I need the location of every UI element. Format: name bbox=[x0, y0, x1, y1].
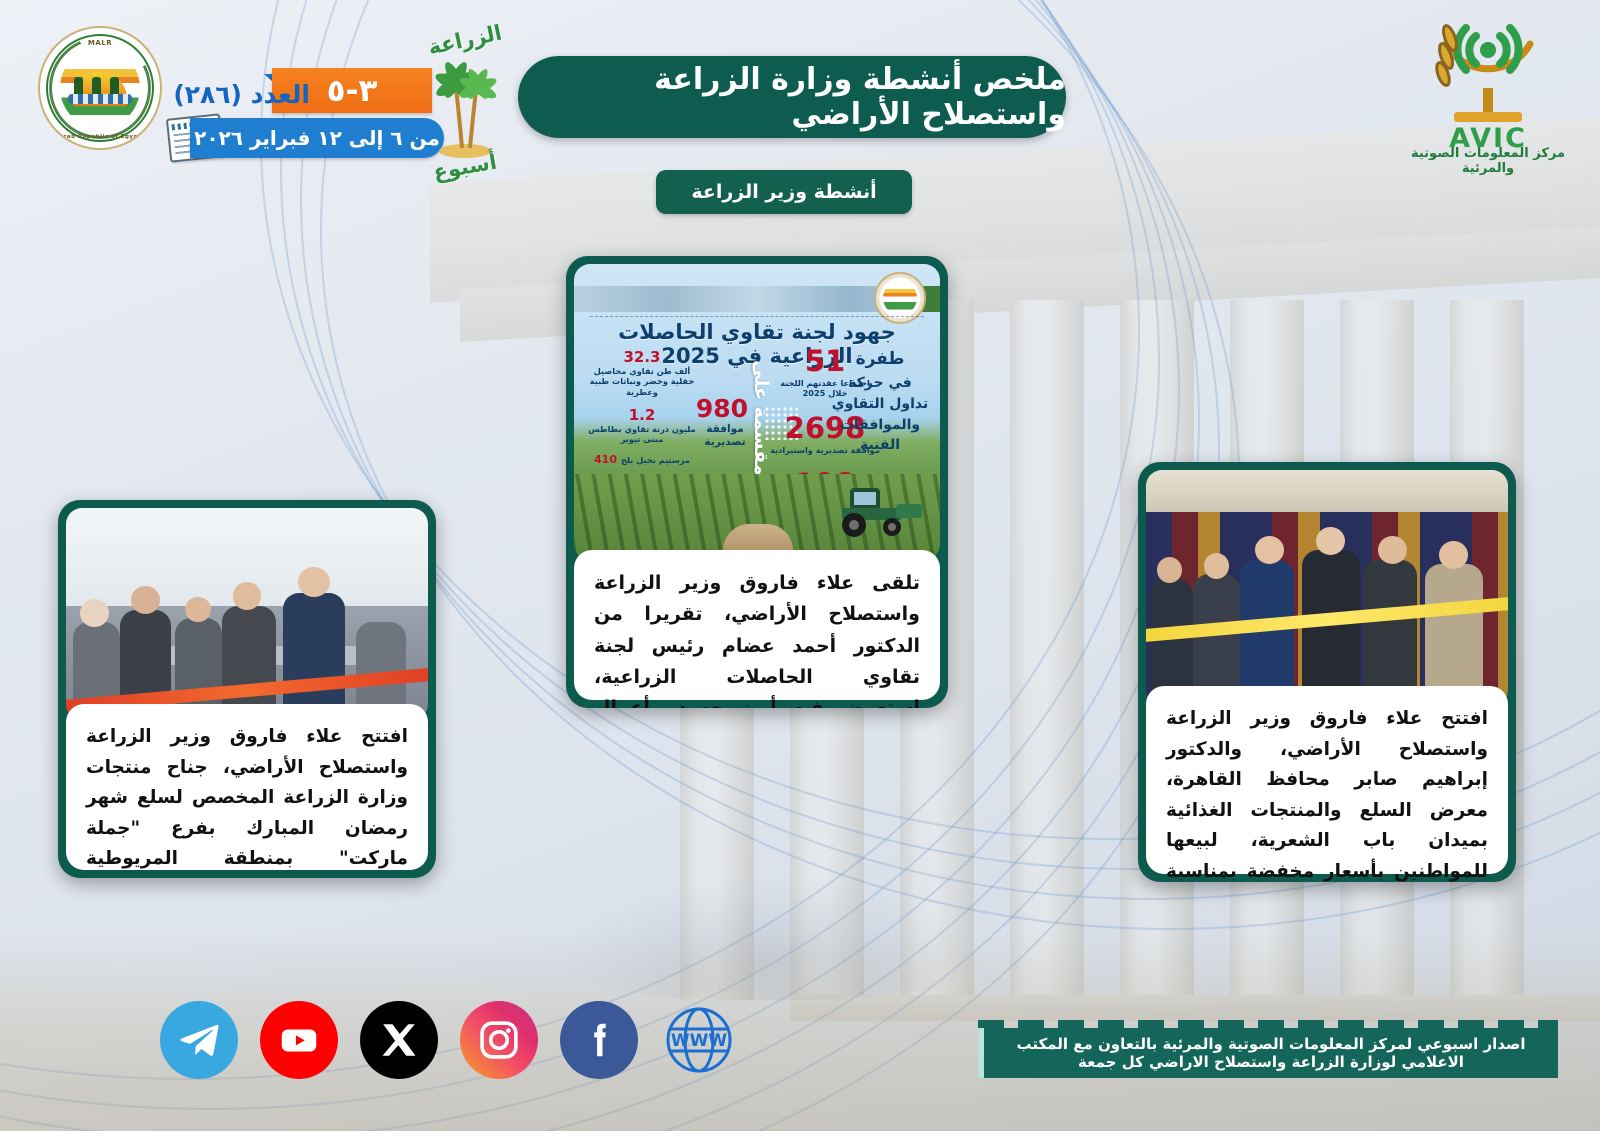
agriculture-week-logo: الزراعة أسبوع bbox=[400, 18, 530, 183]
stat-item: 32.3 ألف طن تقاوي محاصيل حقلية وخضر ونبا… bbox=[586, 348, 698, 397]
news-card-left[interactable]: افتتح علاء فاروق وزير الزراعة واستصلاح ا… bbox=[58, 500, 436, 878]
headline-bold: طفرة bbox=[830, 348, 930, 370]
palm-tree-icon bbox=[412, 48, 518, 158]
telegram-icon[interactable] bbox=[160, 1001, 238, 1079]
infographic-headline: طفرة في حركة تداول التقاوي والموافقات ال… bbox=[830, 348, 930, 455]
issue-number-label: العدد (٢٨٦) bbox=[178, 76, 310, 114]
avic-logo: AVIC مركز المعلومات الصوتية والمرئية bbox=[1388, 8, 1588, 178]
page-title: ملخص أنشطة وزارة الزراعة واستصلاح الأراض… bbox=[518, 56, 1066, 138]
stat-label: مرستيم نخيل بلح bbox=[621, 455, 690, 465]
seal-top-text: MALR bbox=[40, 39, 160, 47]
card-center-infographic: جهود لجنة تقاوي الحاصلات الزراعية في 202… bbox=[574, 264, 940, 560]
headline-rest: في حركة تداول التقاوي والموافقات الفنية bbox=[832, 375, 929, 453]
stat-label: ألف طن تقاوي محاصيل حقلية وخضر ونباتات ط… bbox=[586, 366, 698, 397]
social-links: WWW bbox=[118, 992, 738, 1088]
card-right-caption: افتتح علاء فاروق وزير الزراعة واستصلاح ا… bbox=[1146, 686, 1508, 874]
footer-note: اصدار اسبوعي لمركز المعلومات الصوتية وال… bbox=[978, 1028, 1558, 1078]
stat-item: مرستيم نخيل بلح 410 bbox=[586, 453, 698, 466]
card-left-caption: افتتح علاء فاروق وزير الزراعة واستصلاح ا… bbox=[66, 704, 428, 870]
stat-value: 980 bbox=[702, 394, 748, 423]
stat-item: 1.2 مليون درنة تقاوي بطاطس مبنى تيوبر bbox=[586, 406, 698, 445]
card-center-caption: تلقى علاء فاروق وزير الزراعة واستصلاح ال… bbox=[574, 550, 940, 700]
card-left-photo bbox=[66, 508, 428, 720]
svg-text:WWW: WWW bbox=[671, 1031, 728, 1051]
youtube-icon[interactable] bbox=[260, 1001, 338, 1079]
card-right-photo bbox=[1146, 470, 1508, 706]
stat-value: 1.2 bbox=[586, 406, 698, 424]
www-icon[interactable]: WWW bbox=[660, 1001, 738, 1079]
facebook-icon[interactable] bbox=[560, 1001, 638, 1079]
news-card-center[interactable]: جهود لجنة تقاوي الحاصلات الزراعية في 202… bbox=[566, 256, 948, 708]
avic-broadcast-icon bbox=[1388, 8, 1588, 140]
malr-seal-logo: MALR Arab Republic of Egypt bbox=[38, 26, 162, 150]
x-icon[interactable] bbox=[360, 1001, 438, 1079]
stat-value: 32.3 bbox=[586, 348, 698, 366]
stat-label: موافقة تصديرية bbox=[702, 423, 748, 449]
avic-subtitle: مركز المعلومات الصوتية والمرئية bbox=[1388, 146, 1588, 176]
poster-root: MALR Arab Republic of Egypt ٣-٥ العدد (٢… bbox=[0, 0, 1600, 1131]
tractor-icon bbox=[822, 480, 926, 538]
section-subtitle: أنشطة وزير الزراعة bbox=[656, 170, 912, 214]
stat-label: مليون درنة تقاوي بطاطس مبنى تيوبر bbox=[586, 424, 698, 445]
instagram-icon[interactable] bbox=[460, 1001, 538, 1079]
stat-value: 410 bbox=[594, 453, 617, 466]
infographic-mid-stat: 980 موافقة تصديرية bbox=[702, 394, 748, 449]
seal-bottom-text: Arab Republic of Egypt bbox=[40, 134, 160, 140]
news-card-right[interactable]: افتتح علاء فاروق وزير الزراعة واستصلاح ا… bbox=[1138, 462, 1516, 882]
